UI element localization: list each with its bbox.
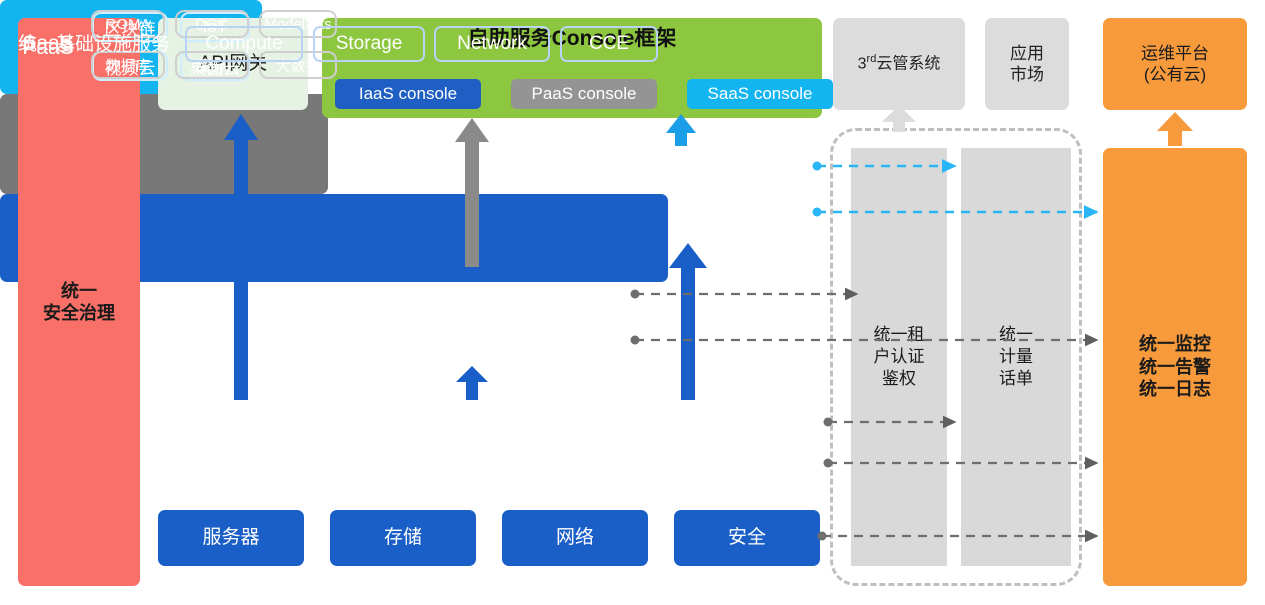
resource-1-label: 存储: [384, 526, 422, 550]
infra-item-3-label: CCE: [589, 33, 629, 55]
ops-platform-public-cloud-label: 运维平台 (公有云): [1141, 43, 1209, 86]
infrastructure-label: 统一基础设施服务: [18, 29, 170, 56]
shared-service-metering-billing[interactable]: 统一 计量 话单: [961, 148, 1071, 566]
third-party-rest: 云管系统: [876, 56, 940, 73]
shared-service-tenant-auth-label: 统一租 户认证 鉴权: [868, 324, 930, 390]
diagram-canvas: 统一 安全治理 API网关 自助服务Console框架 IaaS console…: [0, 0, 1265, 605]
chip-paas-console[interactable]: PaaS console: [511, 79, 657, 109]
arrow-saas-to-saas-console: [666, 114, 696, 146]
resource-box-security[interactable]: 安全: [674, 510, 820, 566]
chip-saas-console[interactable]: SaaS console: [687, 79, 833, 109]
resource-2-label: 网络: [556, 526, 594, 550]
ops-monitoring-label: 统一监控 统一告警 统一日志: [1139, 333, 1211, 401]
third-party-superscript: rd: [867, 53, 877, 65]
infra-item-1-label: Storage: [336, 33, 403, 55]
ops-monitoring-panel[interactable]: 统一监控 统一告警 统一日志: [1103, 148, 1247, 586]
app-market-label: 应用 市场: [1010, 43, 1044, 86]
app-market-box[interactable]: 应用 市场: [985, 18, 1069, 110]
resource-0-label: 服务器: [202, 526, 259, 550]
arrow-ops-main-to-ops-top: [1157, 112, 1193, 146]
shared-service-metering-billing-label: 统一 计量 话单: [985, 324, 1047, 390]
infra-item-2-label: Network: [457, 33, 527, 55]
infra-item-cce[interactable]: CCE: [560, 26, 658, 62]
security-governance-label: 统一 安全治理: [43, 280, 115, 325]
chip-iaas-label: IaaS console: [359, 83, 457, 104]
third-party-cloud-mgmt-box[interactable]: 3rd云管系统: [833, 18, 965, 110]
resource-3-label: 安全: [728, 526, 766, 550]
resource-box-network[interactable]: 网络: [502, 510, 648, 566]
infra-item-network[interactable]: Network: [434, 26, 550, 62]
security-governance-panel[interactable]: 统一 安全治理: [18, 18, 140, 586]
chip-iaas-console[interactable]: IaaS console: [335, 79, 481, 109]
resource-box-server[interactable]: 服务器: [158, 510, 304, 566]
paas-item-3-label: 数据库: [105, 55, 150, 76]
dashed-paas-to-tenant-auth: [631, 290, 858, 299]
resource-box-storage[interactable]: 存储: [330, 510, 476, 566]
infra-item-storage[interactable]: Storage: [313, 26, 425, 62]
third-party-prefix: 3: [858, 56, 867, 73]
infra-item-0-label: Compute: [205, 33, 282, 55]
third-party-cloud-mgmt-label: 3rd云管系统: [858, 53, 941, 74]
chip-paas-label: PaaS console: [532, 83, 637, 104]
arrow-infra-to-saas-console: [669, 243, 707, 400]
ops-platform-public-cloud-box[interactable]: 运维平台 (公有云): [1103, 18, 1247, 110]
shared-service-tenant-auth[interactable]: 统一租 户认证 鉴权: [851, 148, 947, 566]
infra-item-compute[interactable]: Compute: [185, 26, 303, 62]
chip-saas-label: SaaS console: [708, 83, 813, 104]
arrow-infra-to-paas: [456, 366, 488, 400]
